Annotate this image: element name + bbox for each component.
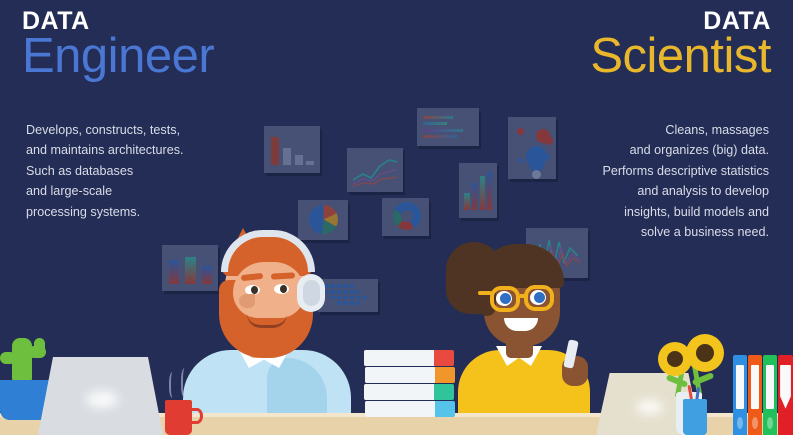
binder-ring — [737, 417, 743, 430]
book-pages — [365, 401, 435, 417]
pencil-cup — [683, 385, 707, 435]
bar-chart-bars — [271, 134, 315, 165]
cup-body — [683, 399, 707, 435]
binder-ring — [752, 417, 758, 430]
book-light-blue — [365, 401, 455, 417]
binder-orange — [748, 355, 762, 435]
book-stack — [364, 350, 456, 415]
book-pages — [364, 384, 434, 400]
right-description-block: Cleans, massages and organizes (big) dat… — [519, 120, 769, 242]
engineer-eyebrow-right — [271, 272, 295, 279]
engineer-nose — [239, 294, 255, 308]
laptop — [38, 357, 163, 435]
binder-blue — [733, 355, 747, 435]
mug-steam-left — [169, 372, 178, 398]
cactus-body — [12, 338, 32, 386]
scientist-glasses-bridge — [520, 294, 526, 298]
line-chart-lines — [347, 148, 403, 192]
binder-red — [778, 355, 793, 435]
coffee-mug — [163, 372, 209, 435]
binder-label — [780, 365, 791, 409]
mug-handle — [191, 408, 203, 424]
column-chart-columns — [464, 171, 492, 211]
right-title: Scientist — [590, 32, 771, 81]
binder-ring — [767, 417, 773, 430]
left-description-block: Develops, constructs, tests, and maintai… — [26, 120, 266, 222]
book-teal — [364, 384, 454, 400]
horizontal-bar-chart-card — [417, 108, 479, 146]
doughnut-hole — [401, 210, 413, 222]
scientist-glasses-temple — [478, 291, 492, 295]
cactus-arm-right-up — [34, 338, 45, 356]
book-pages — [365, 367, 435, 383]
binder-label — [766, 365, 774, 409]
horizontal-bars — [423, 116, 474, 139]
right-heading-block: DATA Scientist — [590, 8, 771, 81]
left-title: Engineer — [22, 32, 214, 81]
left-heading-block: DATA Engineer — [22, 8, 214, 81]
bar-chart-card — [264, 126, 320, 173]
book-pages — [364, 350, 434, 366]
scientist-eye-right-iris — [534, 292, 545, 303]
left-description: Develops, constructs, tests, and maintai… — [26, 120, 266, 222]
binder-green — [763, 355, 777, 435]
mug-steam-right — [181, 368, 190, 398]
binder-label — [751, 365, 759, 409]
scientist-eye-left-iris — [500, 293, 511, 304]
binder-label — [736, 365, 744, 409]
data-scientist-character — [440, 228, 605, 435]
right-description: Cleans, massages and organizes (big) dat… — [519, 120, 769, 242]
doughnut-chart-card — [382, 198, 429, 236]
engineer-headphone-earcup-inner — [303, 280, 320, 306]
engineer-headphone-band — [221, 230, 315, 272]
book-red — [364, 350, 454, 366]
sunflower-center-right — [696, 344, 714, 362]
line-chart-card — [347, 148, 403, 192]
sunflower-center-left — [667, 351, 683, 367]
binder-shelf — [733, 355, 793, 435]
book-orange — [365, 367, 455, 383]
column-chart-card — [459, 163, 497, 218]
engineer-eye-left-pupil — [251, 286, 258, 294]
mug-body — [165, 400, 192, 435]
infographic-canvas: DATA Engineer DATA Scientist Develops, c… — [0, 0, 793, 435]
cactus-arm-left — [0, 352, 16, 364]
engineer-eye-right-pupil — [280, 285, 287, 293]
